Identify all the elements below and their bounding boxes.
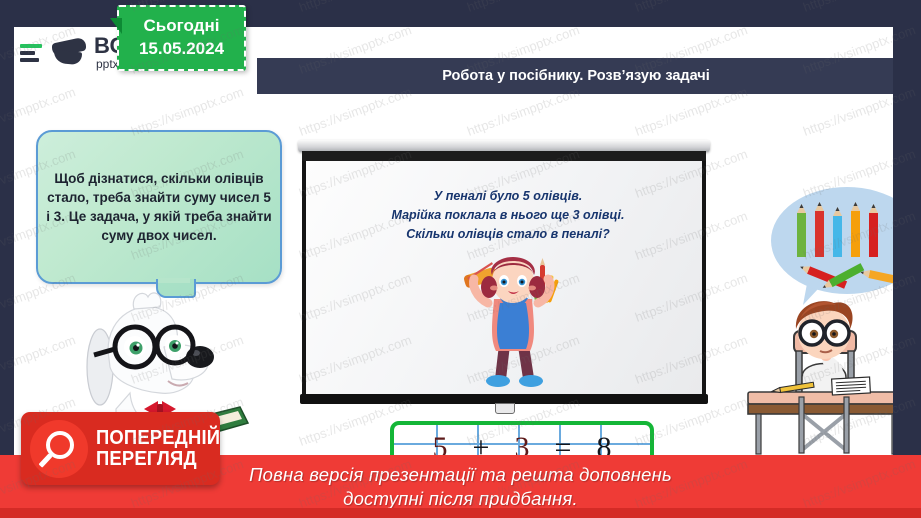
date-badge-value: 15.05.2024	[139, 38, 224, 61]
projector-canvas: У пеналі було 5 олівців. Марійка поклала…	[302, 161, 706, 396]
thought-bubble	[771, 187, 893, 307]
preview-badge[interactable]: ПОПЕРЕДНІЙ ПЕРЕГЛЯД	[21, 412, 220, 485]
speed-lines-icon	[20, 44, 46, 62]
projector-task-text: У пеналі було 5 олівців. Марійка поклала…	[306, 187, 706, 244]
graduation-cap-icon	[50, 36, 90, 70]
header-title-bar: Робота у посібнику. Розв’язую задачі	[257, 58, 893, 94]
magnifier-icon	[30, 420, 88, 478]
page-title: Робота у посібнику. Розв’язую задачі	[442, 68, 710, 84]
projector-screen: У пеналі було 5 олівців. Марійка поклала…	[302, 140, 706, 422]
banner-bottom-strip	[0, 508, 921, 518]
preview-line-1: ПОПЕРЕДНІЙ	[96, 428, 220, 449]
date-badge-label: Сьогодні	[144, 15, 220, 38]
projector-pull-knob[interactable]	[495, 403, 515, 414]
preview-line-2: ПЕРЕГЛЯД	[96, 449, 220, 470]
preview-badge-text: ПОПЕРЕДНІЙ ПЕРЕГЛЯД	[96, 428, 231, 470]
hint-speech-bubble: Щоб дізнатися, скільки олівців стало, тр…	[36, 130, 282, 284]
boy-at-desk-illustration	[724, 295, 893, 460]
banner-line-1: Повна версія презентації та решта доповн…	[249, 464, 672, 485]
date-badge: Сьогодні 15.05.2024	[117, 5, 246, 71]
purchase-banner-text: Повна версія презентації та решта доповн…	[249, 463, 672, 509]
pencils-illustration	[771, 187, 893, 294]
hint-bubble-text: Щоб дізнатися, скільки олівців стало, тр…	[38, 169, 280, 246]
task-line-1: У пеналі було 5 олівців.	[306, 187, 706, 206]
speech-bubble-tail-mask	[158, 278, 190, 283]
slide-stage: ВСІМ pptx Робота у посібнику. Розв’язую …	[0, 0, 921, 518]
banner-line-2: доступні після придбання.	[343, 488, 578, 509]
task-line-3: Скільки олівців стало в пеналі?	[306, 225, 706, 244]
task-line-2: Марійка поклала в нього ще 3 олівці.	[306, 206, 706, 225]
girl-with-pencils-illustration	[458, 253, 568, 395]
